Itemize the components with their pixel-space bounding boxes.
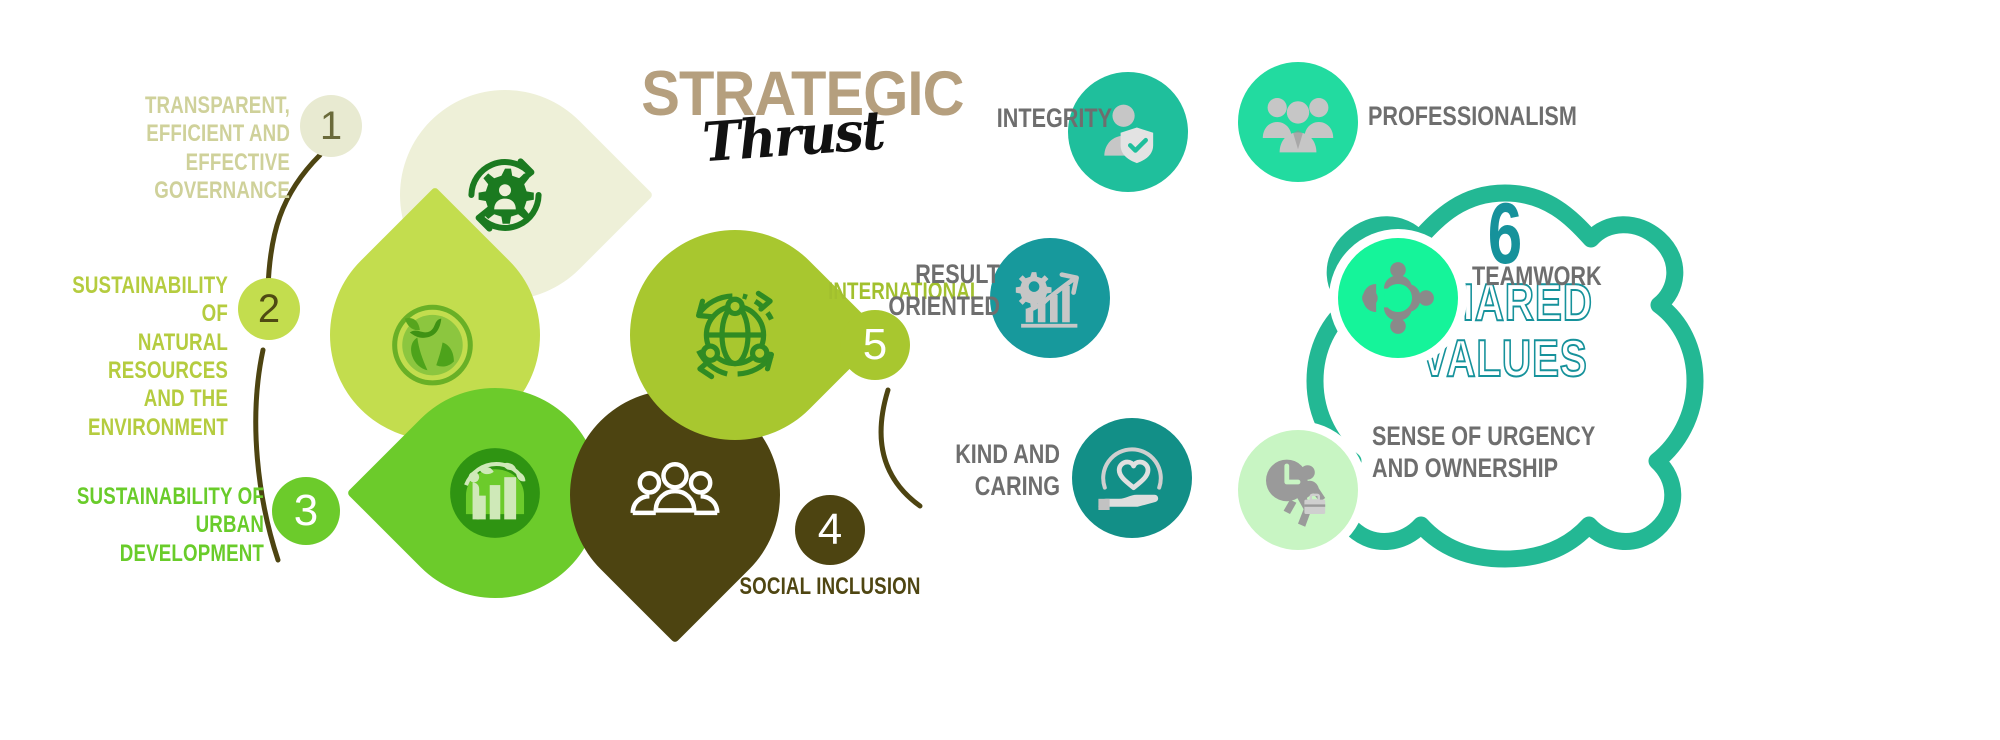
number-circle-2[interactable]: 2 bbox=[238, 278, 300, 340]
value-circle-kind-caring[interactable] bbox=[1072, 418, 1192, 538]
value-circle-result-oriented[interactable] bbox=[990, 238, 1110, 358]
people-circle-network-icon bbox=[1359, 259, 1437, 337]
number-circle-4[interactable]: 4 bbox=[795, 495, 865, 565]
label-social-inclusion: SOCIAL INCLUSION bbox=[700, 573, 960, 601]
value-label-urgency: SENSE OF URGENCY AND OWNERSHIP bbox=[1372, 420, 1660, 485]
number-5-text: 5 bbox=[863, 320, 887, 370]
value-circle-professionalism[interactable] bbox=[1238, 62, 1358, 182]
number-2-text: 2 bbox=[258, 287, 280, 332]
clock-running-person-icon bbox=[1258, 450, 1338, 530]
value-label-kind-caring: KIND AND CARING bbox=[876, 438, 1060, 503]
three-professionals-icon bbox=[1258, 82, 1338, 162]
label-natural-resources-text: SUSTAINABILITY OF NATURAL RESOURCES AND … bbox=[50, 272, 228, 442]
strategic-thrust-title: STRATEGIC Thrust bbox=[628, 58, 958, 178]
infographic-canvas: STRATEGIC Thrust bbox=[0, 0, 2000, 706]
label-urban-development: SUSTAINABILITY OF URBAN DEVELOPMENT bbox=[0, 483, 264, 568]
label-governance-text: TRANSPARENT, EFFICIENT AND EFFECTIVE GOV… bbox=[64, 92, 290, 205]
number-circle-3[interactable]: 3 bbox=[272, 477, 340, 545]
growth-chart-gear-icon bbox=[1012, 260, 1088, 336]
globe-leaf-icon bbox=[372, 272, 498, 398]
petal-internationalization[interactable] bbox=[587, 187, 884, 484]
center-line2: VALUES bbox=[1422, 329, 1588, 389]
label-social-inclusion-text: SOCIAL INCLUSION bbox=[739, 573, 920, 601]
value-label-professionalism: PROFESSIONALISM bbox=[1368, 100, 1632, 132]
number-1-text: 1 bbox=[320, 104, 342, 149]
label-natural-resources: SUSTAINABILITY OF NATURAL RESOURCES AND … bbox=[0, 272, 228, 442]
number-3-text: 3 bbox=[294, 486, 318, 536]
value-label-teamwork: TEAMWORK bbox=[1472, 260, 1712, 292]
label-urban-development-text: SUSTAINABILITY OF URBAN DEVELOPMENT bbox=[58, 483, 264, 568]
label-governance: TRANSPARENT, EFFICIENT AND EFFECTIVE GOV… bbox=[0, 92, 290, 205]
value-circle-teamwork[interactable] bbox=[1338, 238, 1458, 358]
shared-values-panel: 6 SHARED VALUES INTEGRITY bbox=[1000, 0, 2000, 706]
three-people-icon bbox=[611, 431, 739, 559]
value-circle-urgency[interactable] bbox=[1238, 430, 1358, 550]
hand-heart-icon bbox=[1092, 438, 1172, 518]
number-4-text: 4 bbox=[818, 505, 842, 555]
green-city-icon bbox=[429, 427, 561, 559]
strategic-thrust-panel: STRATEGIC Thrust bbox=[0, 0, 1000, 706]
global-network-icon bbox=[670, 270, 800, 400]
value-label-integrity: INTEGRITY bbox=[960, 102, 1112, 134]
number-circle-1[interactable]: 1 bbox=[300, 95, 362, 157]
value-label-result-oriented: RESULT ORIENTED bbox=[800, 258, 1000, 323]
